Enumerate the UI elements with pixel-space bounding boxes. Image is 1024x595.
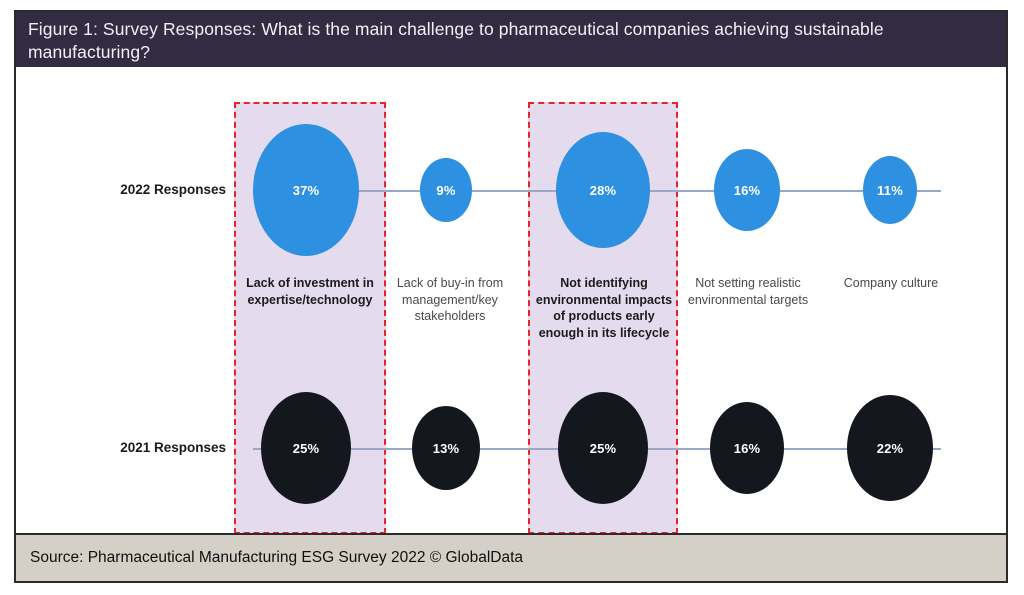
bubble-value: 11% (877, 184, 903, 197)
bubble-2022-culture[interactable]: 11% (863, 156, 917, 224)
bubble-value: 16% (734, 442, 761, 455)
bubble-value: 13% (433, 442, 460, 455)
bubble-2021-culture[interactable]: 22% (847, 395, 933, 501)
bubble-value: 37% (293, 184, 320, 197)
category-label-lifecycle: Not identifying environmental impacts of… (532, 275, 676, 341)
bubble-2021-targets[interactable]: 16% (710, 402, 784, 494)
category-label-culture: Company culture (826, 275, 956, 292)
bubble-2022-lifecycle[interactable]: 28% (556, 132, 650, 248)
bubble-value: 25% (293, 442, 320, 455)
bubble-value: 25% (590, 442, 617, 455)
category-label-investment: Lack of investment in expertise/technolo… (238, 275, 382, 308)
bubble-value: 28% (590, 184, 617, 197)
bubble-2021-investment[interactable]: 25% (261, 392, 351, 504)
category-label-buyin: Lack of buy-in from management/key stake… (390, 275, 510, 325)
bubble-2022-buyin[interactable]: 9% (420, 158, 472, 222)
row-label-2022: 2022 Responses (96, 182, 226, 197)
bubble-chart-plot-area: 2022 Responses 2021 Responses 37% 9% 28%… (16, 67, 1006, 533)
bubble-2022-investment[interactable]: 37% (253, 124, 359, 256)
bubble-2021-lifecycle[interactable]: 25% (558, 392, 648, 504)
bubble-value: 9% (436, 184, 455, 197)
figure-source-text: Source: Pharmaceutical Manufacturing ESG… (30, 549, 523, 567)
bubble-value: 16% (734, 184, 761, 197)
bubble-2022-targets[interactable]: 16% (714, 149, 780, 231)
category-label-targets: Not setting realistic environmental targ… (686, 275, 810, 308)
bubble-value: 22% (877, 442, 904, 455)
figure-title: Figure 1: Survey Responses: What is the … (28, 18, 994, 64)
figure-container: Figure 1: Survey Responses: What is the … (14, 10, 1008, 583)
row-label-2021: 2021 Responses (96, 440, 226, 455)
bubble-2021-buyin[interactable]: 13% (412, 406, 480, 490)
figure-header: Figure 1: Survey Responses: What is the … (16, 12, 1006, 67)
figure-source-bar: Source: Pharmaceutical Manufacturing ESG… (16, 533, 1006, 581)
